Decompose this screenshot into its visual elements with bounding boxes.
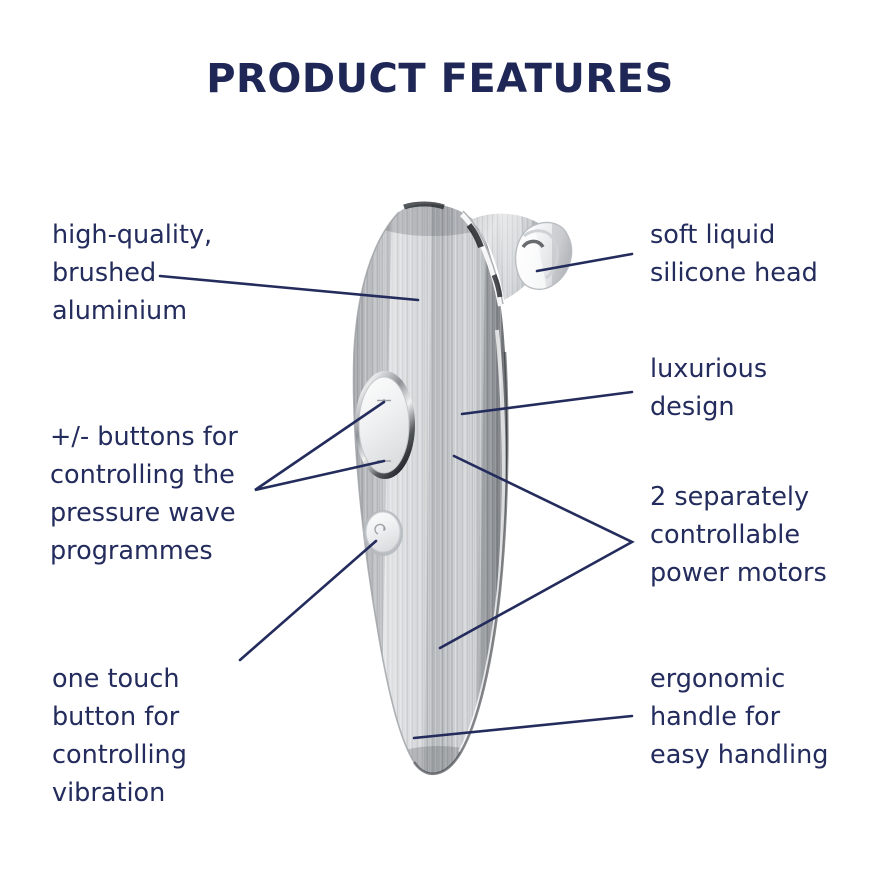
leader-lines xyxy=(0,0,880,880)
leader-line-one-touch xyxy=(240,541,376,660)
leader-line-ergonomic-handle xyxy=(414,716,632,738)
leader-line-aluminium xyxy=(160,276,418,300)
leader-line-luxurious-design xyxy=(462,392,632,414)
leader-line-power-motors xyxy=(440,456,632,648)
leader-line-silicone-head xyxy=(537,254,632,271)
product-features-infographic: PRODUCT FEATURES xyxy=(0,0,880,880)
leader-line-plus-minus xyxy=(255,402,384,490)
